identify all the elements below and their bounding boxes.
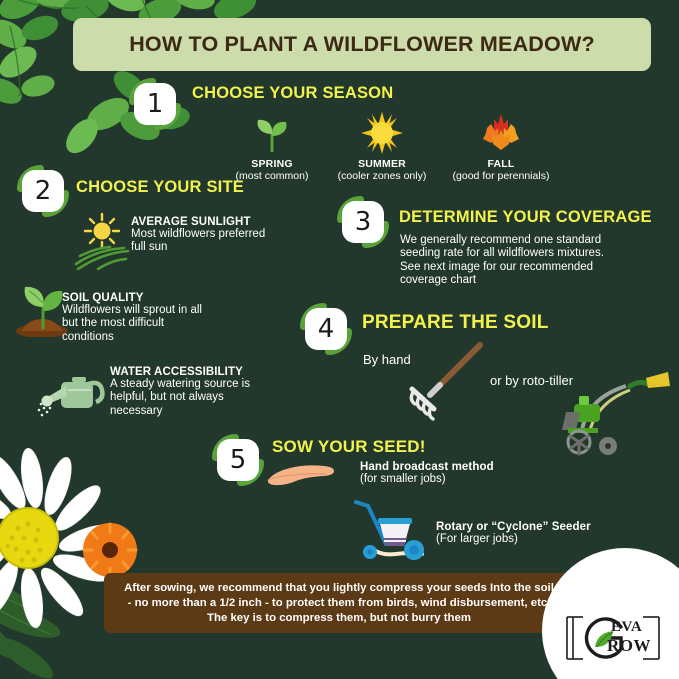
sunlight-line-2: full sun <box>131 241 341 254</box>
roto-tiller-icon <box>546 368 674 460</box>
season-name: SPRING <box>212 158 332 170</box>
hand-broadcast-text: Hand broadcast method (for smaller jobs) <box>360 461 590 486</box>
hand-broadcast-note: (for smaller jobs) <box>360 473 590 486</box>
open-hand-icon <box>262 458 358 498</box>
soil-text-block: SOIL QUALITY Wildflowers will sprout in … <box>62 292 292 344</box>
page-title: HOW TO PLANT A WILDFLOWER MEADOW? <box>129 32 595 57</box>
step-heading-4: PREPARE THE SOIL <box>362 312 549 334</box>
step-number-3: 3 <box>342 201 384 243</box>
coverage-line-1: We generally recommend one standard <box>400 234 675 247</box>
water-line-1: A steady watering source is <box>110 378 340 391</box>
watering-can-icon <box>36 368 106 418</box>
sun-icon <box>322 112 442 154</box>
water-text-block: WATER ACCESSIBILITY A steady watering so… <box>110 366 340 418</box>
daisy-flower-decoration <box>0 446 156 679</box>
coverage-line-2: seeding rate for all wildflowers mixture… <box>400 247 675 260</box>
logo-word-bottom: ROW <box>607 636 651 656</box>
season-summer: SUMMER (cooler zones only) <box>322 112 442 182</box>
coverage-line-4: coverage chart <box>400 274 675 287</box>
hand-broadcast-title: Hand broadcast method <box>360 461 590 473</box>
season-name: FALL <box>441 158 561 170</box>
rotary-seeder-note: (For larger jobs) <box>436 533 676 546</box>
season-note: (cooler zones only) <box>322 170 442 182</box>
step-heading-5: SOW YOUR SEED! <box>272 437 426 457</box>
soil-line-1: Wildflowers will sprout in all <box>62 304 292 317</box>
step-heading-2: CHOOSE YOUR SITE <box>76 178 244 197</box>
season-fall: FALL (good for perennials) <box>441 112 561 182</box>
rotary-seeder-text: Rotary or “Cyclone” Seeder (For larger j… <box>436 521 676 546</box>
sunlight-line-1: Most wildflowers preferred <box>131 228 341 241</box>
step-number-2: 2 <box>22 170 64 212</box>
page-title-banner: HOW TO PLANT A WILDFLOWER MEADOW? <box>73 18 651 71</box>
broadcast-spreader-icon <box>348 500 436 562</box>
water-line-2: helpful, but not always <box>110 391 340 404</box>
sunlight-title: AVERAGE SUNLIGHT <box>131 216 341 228</box>
infographic-canvas: HOW TO PLANT A WILDFLOWER MEADOW? 1 CHOO… <box>0 0 679 679</box>
water-line-3: necessary <box>110 405 340 418</box>
step-badge-3: 3 <box>337 196 389 248</box>
step-number-1: 1 <box>134 83 176 125</box>
logo-word-top: EVA <box>611 619 642 636</box>
rake-icon <box>400 337 490 422</box>
season-note: (good for perennials) <box>441 170 561 182</box>
step-badge-4: 4 <box>300 303 352 355</box>
water-title: WATER ACCESSIBILITY <box>110 366 340 378</box>
season-spring: SPRING (most common) <box>212 112 332 182</box>
footer-note-box: After sowing, we recommend that you ligh… <box>104 573 574 633</box>
calendula-flower-decoration <box>83 523 137 577</box>
footer-line-1: After sowing, we recommend that you ligh… <box>124 581 554 596</box>
sun-over-field-icon <box>74 212 130 270</box>
step-number-5: 5 <box>217 439 259 481</box>
season-name: SUMMER <box>322 158 442 170</box>
soil-title: SOIL QUALITY <box>62 292 292 304</box>
sunlight-text-block: AVERAGE SUNLIGHT Most wildflowers prefer… <box>131 216 341 255</box>
step-badge-2: 2 <box>17 165 69 217</box>
rotary-seeder-title: Rotary or “Cyclone” Seeder <box>436 521 676 533</box>
soil-line-3: conditions <box>62 331 292 344</box>
footer-line-3: The key is to compress them, but not bur… <box>207 611 471 626</box>
seedling-icon <box>212 112 332 154</box>
brand-logo[interactable]: EVA ROW <box>563 611 663 665</box>
coverage-line-3: See next image for our recommended <box>400 261 675 274</box>
step-number-4: 4 <box>305 308 347 350</box>
step-heading-3: DETERMINE YOUR COVERAGE <box>399 208 652 227</box>
maple-leaf-icon <box>441 112 561 154</box>
coverage-text-block: We generally recommend one standard seed… <box>400 234 675 288</box>
footer-line-2: - no more than a 1/2 inch - to protect t… <box>128 596 551 611</box>
step-badge-1: 1 <box>129 78 181 130</box>
soil-line-2: but the most difficult <box>62 317 292 330</box>
step-badge-5: 5 <box>212 434 264 486</box>
step-heading-1: CHOOSE YOUR SEASON <box>192 84 393 103</box>
